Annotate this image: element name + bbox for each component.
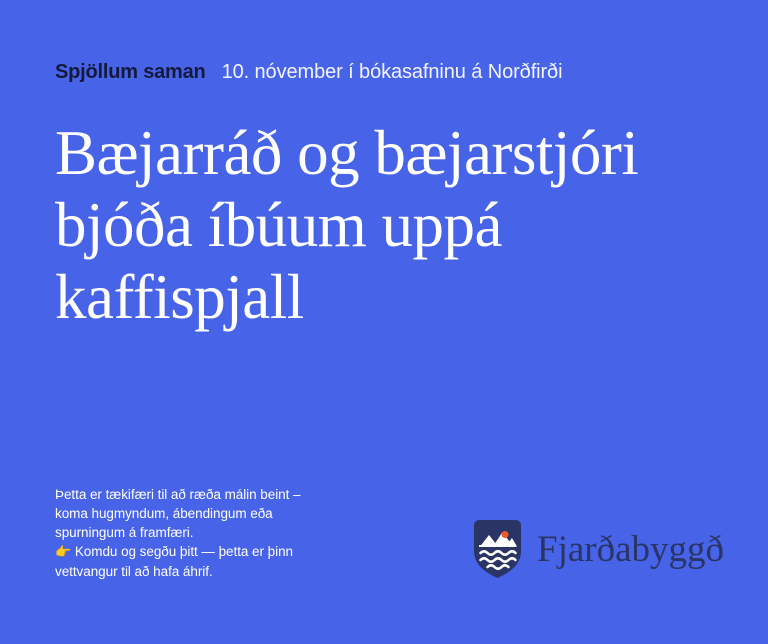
poster-canvas: Spjöllum saman 10. nóvember í bókasafnin… (0, 0, 768, 644)
fjardabyggd-shield-icon (474, 520, 521, 578)
eyebrow-kicker: Spjöllum saman (55, 62, 206, 82)
body-cta-line-1: 👉 Komdu og segðu þitt — þetta er þinn (55, 542, 385, 562)
headline-line-3: kaffispjall (55, 261, 705, 333)
eyebrow-row: Spjöllum saman 10. nóvember í bókasafnin… (55, 62, 562, 82)
page-title: Bæjarráð og bæjarstjóri bjóða íbúum uppá… (55, 117, 705, 333)
fjardabyggd-wordmark: Fjarðabyggð (537, 531, 724, 568)
body-cta-text-1: Komdu og segðu þitt — þetta er þinn (71, 544, 293, 559)
headline-line-2: bjóða íbúum uppá (55, 189, 705, 261)
body-line-1: Þetta er tækifæri til að ræða málin bein… (55, 485, 385, 504)
body-line-3: spurningum á framfæri. (55, 523, 385, 542)
logo-lockup: Fjarðabyggð (474, 520, 724, 578)
eyebrow-event-details: 10. nóvember í bókasafninu á Norðfirði (222, 62, 563, 82)
pointing-right-icon: 👉 (55, 545, 71, 560)
body-cta-line-2: vettvangur til að hafa áhrif. (55, 562, 385, 581)
headline-line-1: Bæjarráð og bæjarstjóri (55, 117, 705, 189)
body-copy: Þetta er tækifæri til að ræða málin bein… (55, 485, 385, 581)
body-line-2: koma hugmyndum, ábendingum eða (55, 504, 385, 523)
